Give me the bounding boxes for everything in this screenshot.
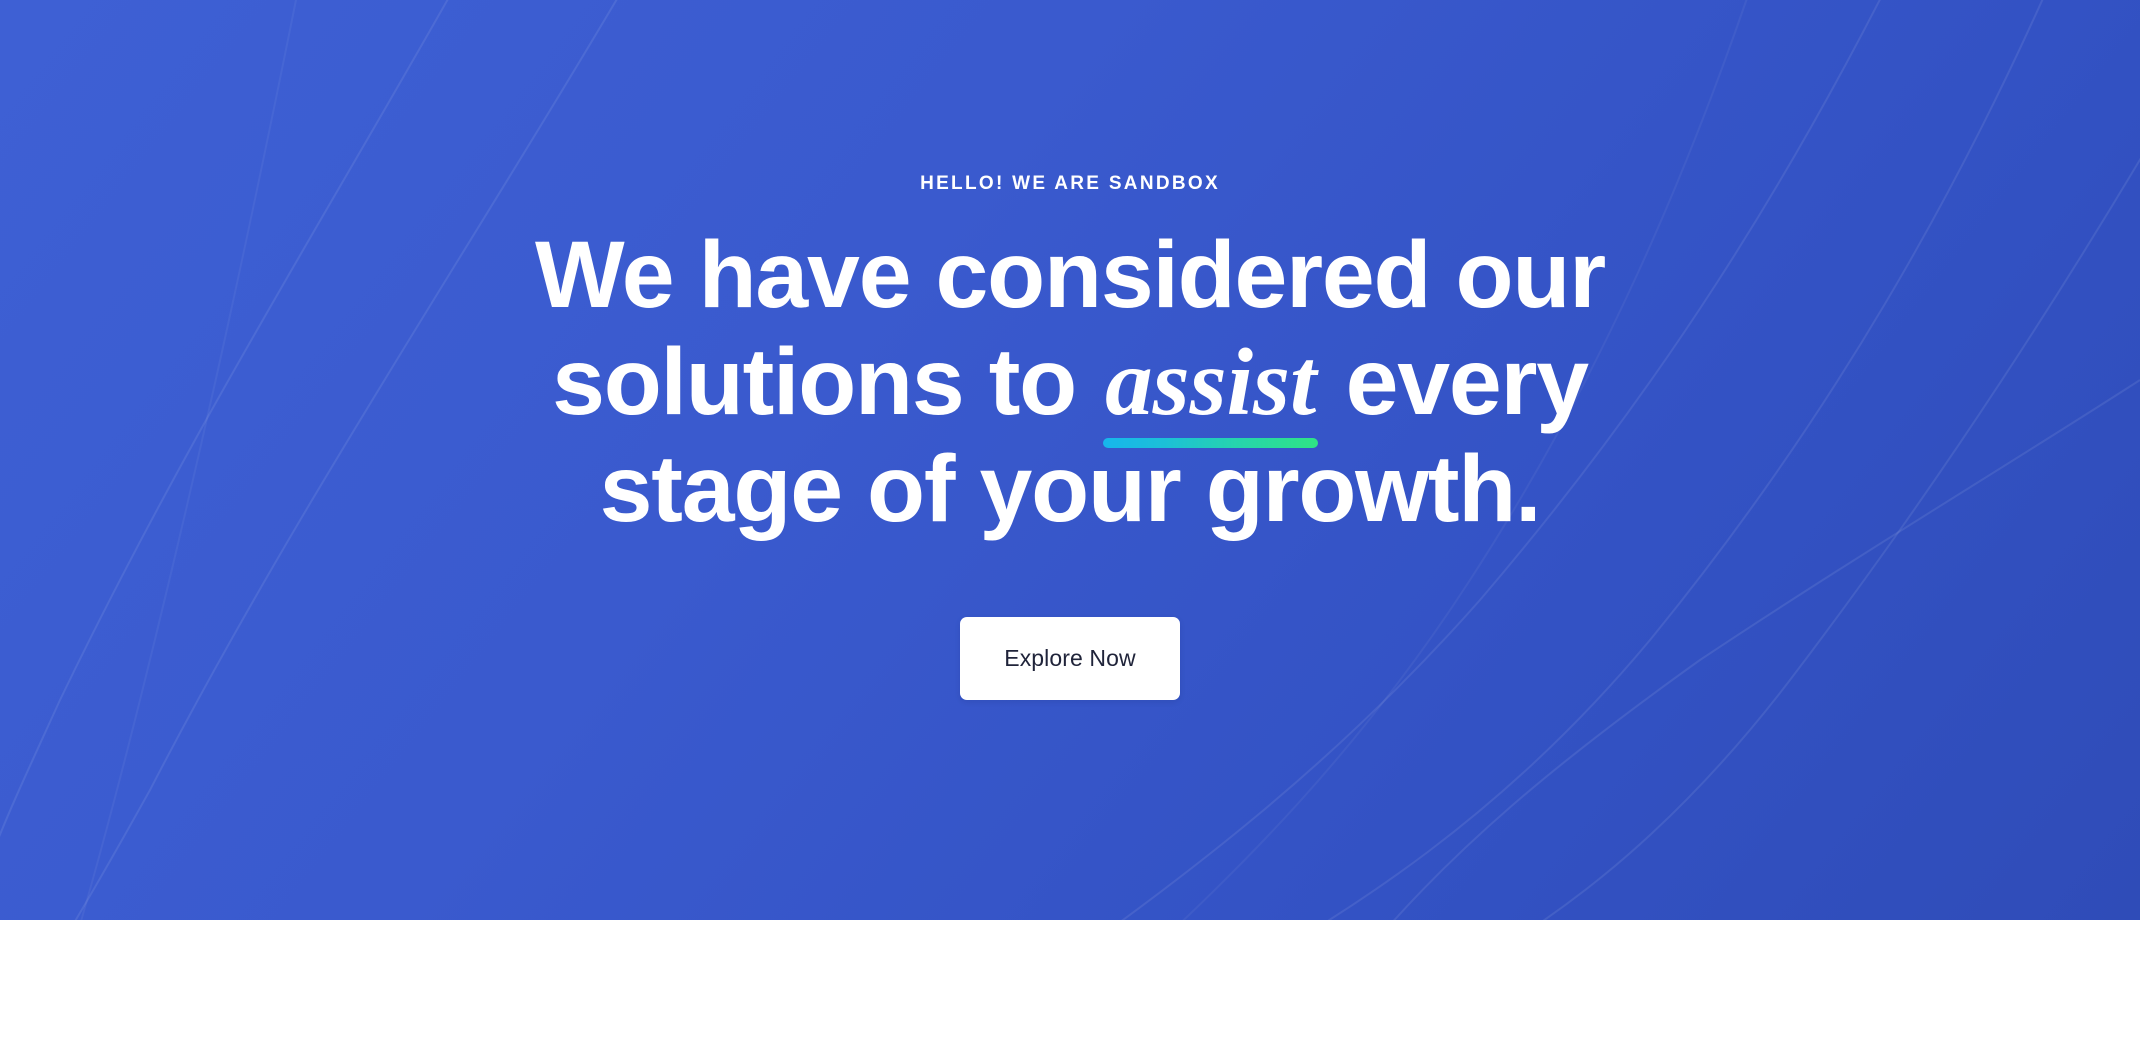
accent-underline-bar	[1103, 438, 1318, 448]
hero-landing-page: HELLO! WE ARE SANDBOX We have considered…	[0, 0, 2140, 1040]
headline-accent-word-text: assist	[1105, 329, 1316, 435]
headline-line-3: stage of your growth.	[450, 436, 1690, 543]
hero-content: HELLO! WE ARE SANDBOX We have considered…	[0, 0, 2140, 920]
hero-kicker: HELLO! WE ARE SANDBOX	[0, 174, 2140, 193]
headline-line-1: We have considered our	[450, 222, 1690, 329]
below-fold-section	[0, 920, 2140, 1040]
hero-section: HELLO! WE ARE SANDBOX We have considered…	[0, 0, 2140, 920]
headline-line-2-before: solutions to	[552, 329, 1101, 435]
headline-line-2: solutions to assist every	[450, 329, 1690, 436]
hero-cta-container: Explore Now	[0, 617, 2140, 700]
headline-line-2-after: every	[1320, 329, 1588, 435]
headline-accent-word: assist	[1101, 329, 1320, 436]
explore-now-button[interactable]: Explore Now	[960, 617, 1180, 700]
hero-headline: We have considered our solutions to assi…	[450, 222, 1690, 543]
